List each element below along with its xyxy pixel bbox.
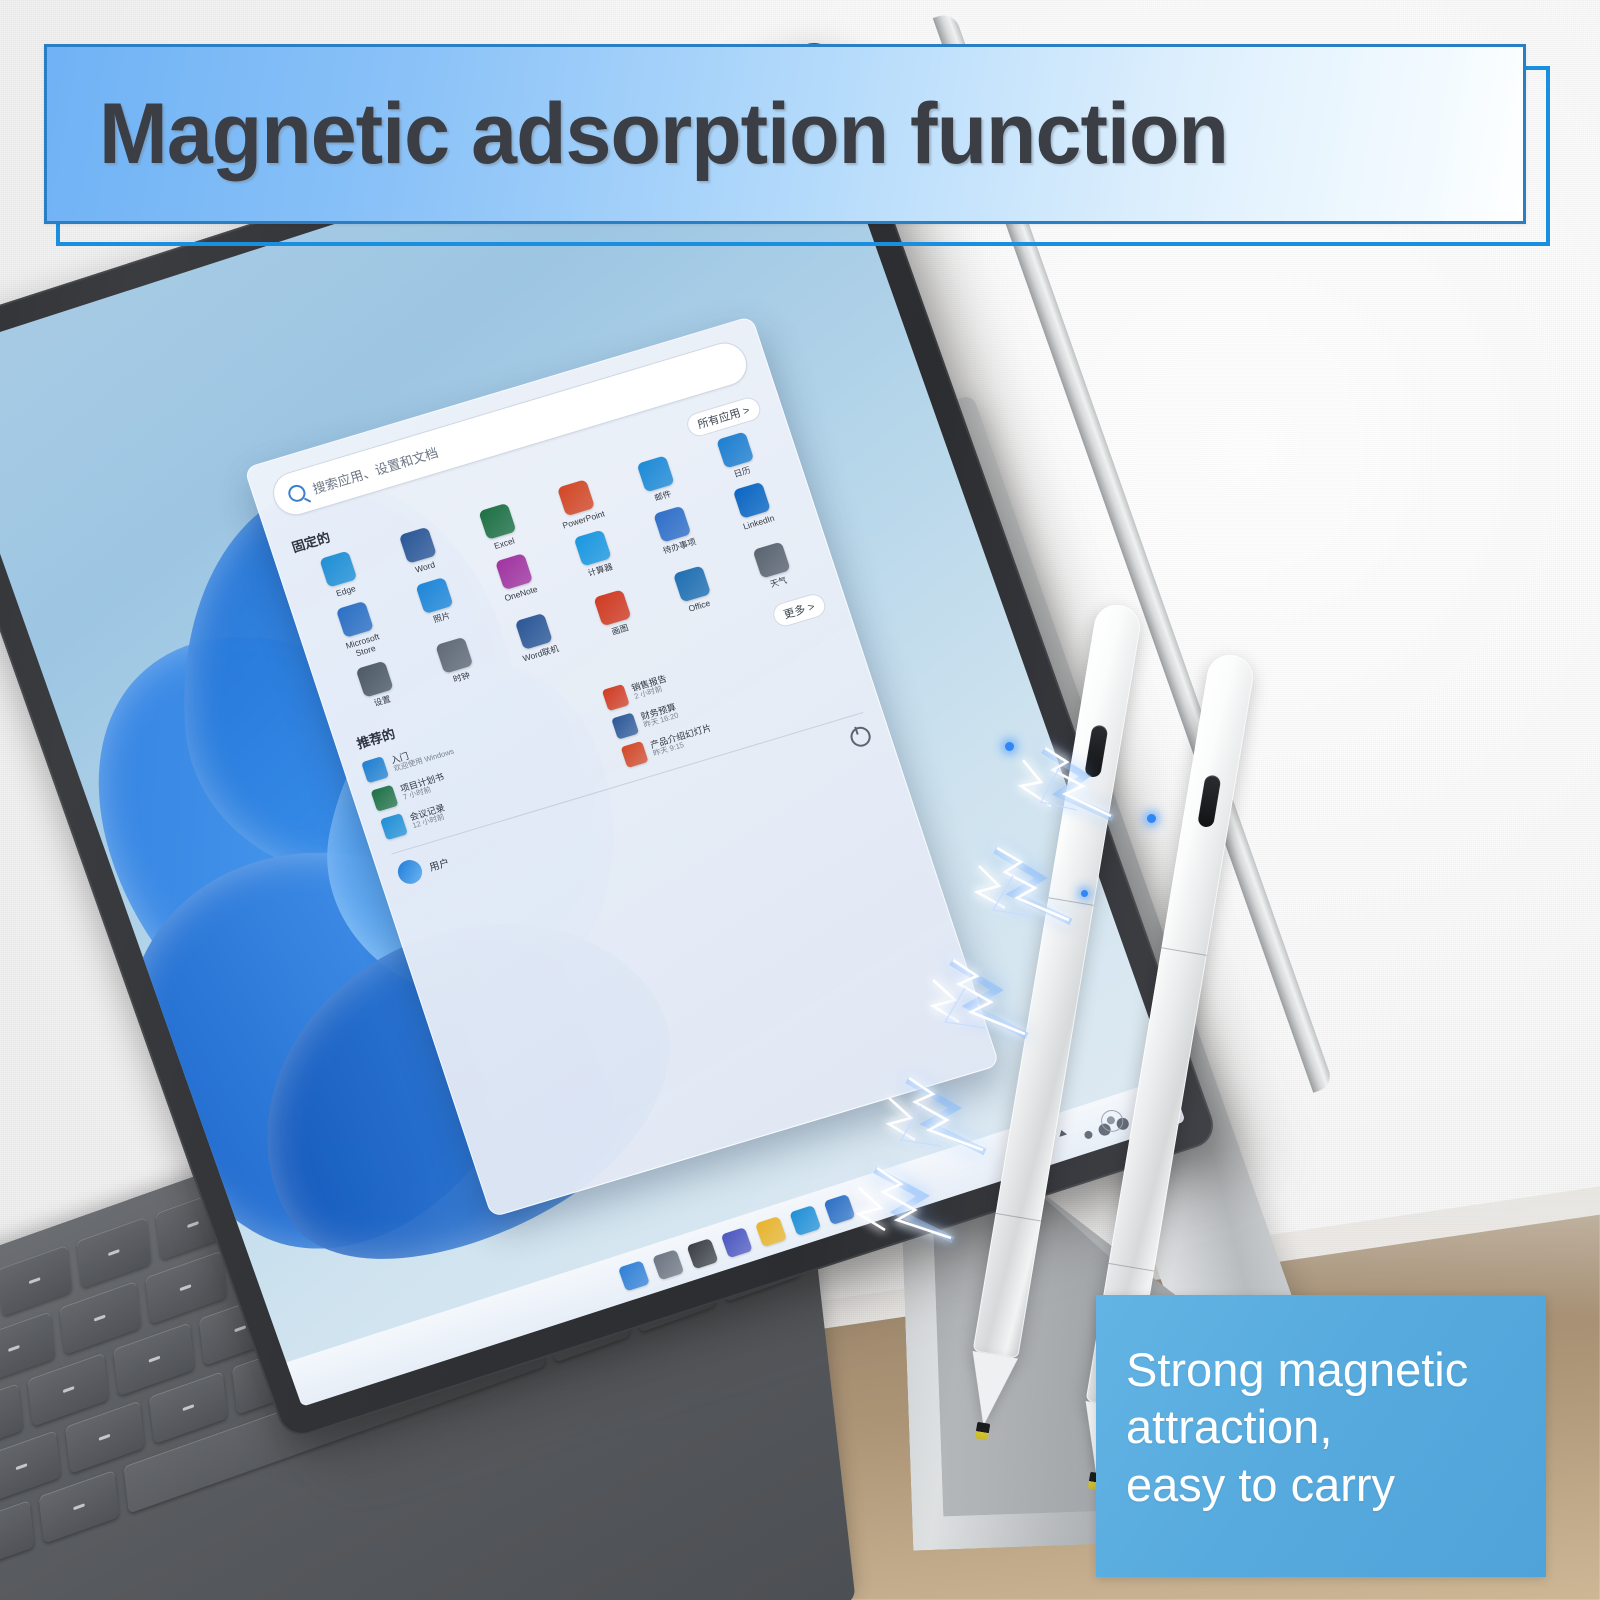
search-icon (286, 482, 308, 503)
header-banner: Magnetic adsorption function (44, 44, 1526, 224)
key[interactable] (0, 1245, 72, 1317)
pinned-app-15[interactable]: Word联机 (491, 606, 580, 670)
pinned-app-12[interactable]: LinkedIn (709, 475, 801, 548)
app-label: 邮件 (653, 489, 672, 503)
pinned-app-10[interactable]: 计算器 (551, 523, 643, 596)
app-label: 天气 (769, 576, 788, 590)
store-icon[interactable] (823, 1194, 855, 1225)
app-label: 时钟 (452, 671, 471, 685)
app-icon (415, 577, 453, 614)
network-icon[interactable] (1083, 1130, 1093, 1140)
app-label: 照片 (432, 611, 451, 625)
app-label: 计算器 (587, 563, 614, 579)
key[interactable] (38, 1470, 119, 1544)
app-icon (752, 542, 790, 579)
app-icon (320, 550, 358, 587)
edge-icon[interactable] (789, 1205, 821, 1236)
app-icon (733, 482, 771, 519)
app-label: 设置 (373, 695, 392, 709)
start-icon[interactable] (617, 1260, 649, 1291)
pen-tip-icon (975, 1422, 991, 1441)
pinned-app-7[interactable]: Microsoft Store (313, 594, 405, 667)
pinned-app-9[interactable]: OneNote (471, 547, 563, 620)
app-label: 日历 (733, 466, 752, 480)
file-explorer-icon[interactable] (754, 1216, 786, 1247)
file-icon (371, 785, 399, 812)
key[interactable] (0, 1500, 34, 1574)
app-label: Edge (335, 584, 357, 599)
feature-caption-text: Strong magnetic attraction, easy to carr… (1096, 1295, 1546, 1513)
pinned-app-13[interactable]: 设置 (333, 654, 422, 718)
recommended-label: 推荐的 (354, 723, 397, 752)
power-icon[interactable] (848, 725, 873, 750)
app-icon (435, 637, 473, 674)
app-icon (574, 530, 612, 567)
app-icon (514, 613, 552, 650)
page-title: Magnetic adsorption function (99, 85, 1228, 184)
app-icon (399, 527, 437, 564)
app-icon (336, 601, 374, 638)
product-image-canvas: 搜索应用、设置和文档 固定的 所有应用 > EdgeWordExcelPower… (0, 0, 1600, 1600)
app-icon (557, 479, 595, 516)
file-icon (602, 684, 630, 711)
app-icon (716, 432, 754, 469)
app-icon (653, 506, 691, 543)
app-icon (673, 565, 711, 602)
key[interactable] (76, 1217, 151, 1289)
pinned-app-14[interactable]: 时钟 (412, 630, 501, 694)
pinned-app-8[interactable]: 照片 (392, 570, 484, 643)
app-icon (478, 503, 516, 540)
more-button[interactable]: 更多 > (770, 592, 829, 630)
file-icon (361, 757, 389, 784)
app-icon (356, 661, 394, 698)
app-label: Word (414, 560, 436, 575)
pen-power-button[interactable] (1197, 774, 1221, 828)
pinned-app-18[interactable]: 天气 (729, 535, 818, 599)
avatar[interactable] (395, 857, 426, 887)
pinned-app-17[interactable]: Office (650, 558, 739, 622)
search-icon[interactable] (652, 1249, 684, 1280)
app-icon (594, 589, 632, 626)
pinned-label: 固定的 (289, 526, 332, 555)
app-label: Excel (493, 536, 516, 551)
chevron-up-icon[interactable] (1057, 1129, 1067, 1137)
search-placeholder-text: 搜索应用、设置和文档 (310, 442, 441, 497)
app-label: 画图 (611, 623, 630, 637)
file-icon (380, 813, 408, 840)
pen-power-button[interactable] (1084, 724, 1108, 778)
feature-caption-box: Strong magnetic attraction, easy to carr… (1096, 1295, 1546, 1577)
app-icon (637, 455, 675, 492)
pinned-app-16[interactable]: 画图 (570, 582, 659, 646)
app-icon (495, 553, 533, 590)
widgets-icon[interactable] (686, 1238, 718, 1269)
pinned-app-11[interactable]: 待办事项 (630, 499, 722, 572)
file-icon (611, 713, 639, 740)
teams-icon[interactable] (720, 1227, 752, 1258)
file-icon (621, 741, 649, 768)
user-name-label: 用户 (427, 854, 451, 874)
app-label: Office (687, 599, 711, 614)
